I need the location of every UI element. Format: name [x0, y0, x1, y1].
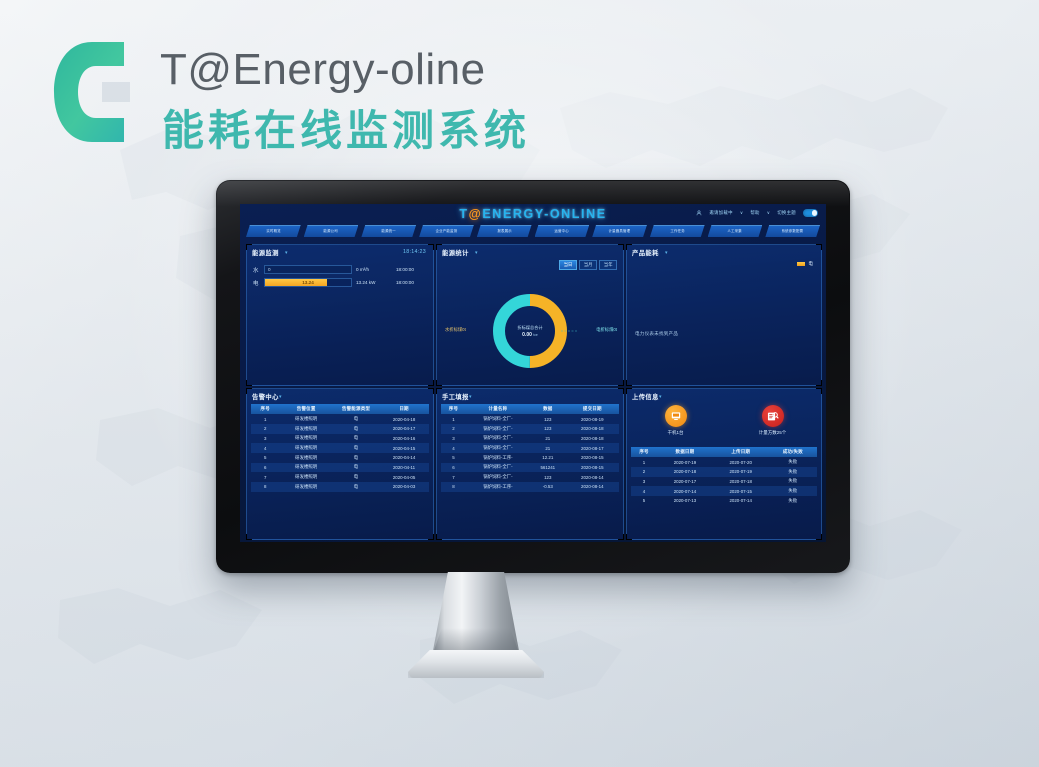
- table-cell: 失败: [769, 496, 817, 506]
- table-header-row: 序号 计量名称 数据 提交日期: [441, 404, 619, 414]
- nav-item-3[interactable]: 企业产能监测: [419, 225, 474, 237]
- table-cell: 1: [631, 457, 657, 467]
- table-row[interactable]: 7研发楼照明电2020-04-05: [251, 472, 429, 482]
- table-row[interactable]: 5研发楼照明电2020-04-14: [251, 453, 429, 463]
- table-cell: 电: [333, 453, 379, 463]
- alarm-table-body: 1研发楼照明电2020-04-182研发楼照明电2020-04-173研发楼照明…: [251, 414, 429, 492]
- account-label[interactable]: 邀请加载中: [709, 210, 732, 216]
- c-mark-logo-icon: [52, 32, 132, 152]
- nav-item-4[interactable]: 报表展示: [477, 225, 532, 237]
- nav-label: 计量器具管理: [609, 229, 631, 234]
- table-row[interactable]: 5锅炉饲料-工序-12.212020-08-15: [441, 453, 619, 463]
- table-row[interactable]: 2研发楼照明电2020-04-17: [251, 424, 429, 434]
- nav-label: 实时概览: [266, 229, 280, 234]
- panel-expand-icon[interactable]: ▾: [665, 250, 668, 256]
- brand-header: T@Energy-oline 能耗在线监测系统: [52, 26, 572, 156]
- report-search-icon: [762, 405, 784, 427]
- table-cell: 电: [333, 434, 379, 444]
- table-cell: 2020-04-05: [379, 472, 429, 482]
- col-submit-date: 提交日期: [566, 404, 619, 414]
- table-cell: 4: [441, 443, 466, 453]
- upload-table: 序号 数据日期 上传日期 成功/失败 12020-07-192020-07-20…: [631, 447, 817, 506]
- brand-title-cn: 能耗在线监测系统: [162, 110, 530, 152]
- panel-title-energy-monitor: 能源监测: [252, 248, 279, 257]
- help-caret-icon[interactable]: ∨: [767, 210, 771, 216]
- table-cell: 2020-04-17: [379, 424, 429, 434]
- dashboard-screen: T@ENERGY-ONLINE 邀请加载中 ∨ 帮助 ∨ 切换主题 实时概览 能…: [240, 204, 826, 542]
- donut-center-value: 0.00: [522, 332, 532, 338]
- main-nav: 实时概览 能源公司 能源统一 企业产能监测 报表展示 运营中心 计量器具管理 工…: [246, 225, 820, 238]
- product-legend: 电: [797, 261, 813, 267]
- nav-label: 报表展示: [497, 229, 511, 234]
- table-row[interactable]: 7锅炉饲料-全厂-1232020-08-14: [441, 472, 619, 482]
- table-row[interactable]: 3锅炉饲料-全厂-212020-08-18: [441, 434, 619, 444]
- table-cell: 2020-08-15: [566, 463, 619, 473]
- panel-title-upload-info: 上传信息: [632, 392, 659, 401]
- panel-energy-statistics: 能源统计 ▾ 当日 当月 当年 水折标煤0t 电折标煤0t: [436, 244, 624, 386]
- col-meter: 计量名称: [466, 404, 530, 414]
- table-cell: 失败: [769, 457, 817, 467]
- table-cell: 2020-04-16: [379, 434, 429, 444]
- badge-caption: 计量方数25个: [738, 430, 808, 436]
- table-cell: 研发楼照明: [279, 472, 332, 482]
- table-cell: 锅炉饲料-全厂-: [466, 414, 530, 424]
- table-row[interactable]: 8研发楼照明电2020-04-03: [251, 482, 429, 492]
- donut-center-label: 折标煤总合计: [437, 325, 623, 331]
- tab-month[interactable]: 当月: [579, 260, 597, 270]
- col-index: 序号: [631, 447, 657, 457]
- table-cell: 锅炉饲料-全厂-: [466, 443, 530, 453]
- nav-item-5[interactable]: 运营中心: [535, 225, 590, 237]
- table-cell: 失败: [769, 467, 817, 477]
- table-row[interactable]: 22020-07-182020-07-19失败: [631, 467, 817, 477]
- table-cell: 2020-07-17: [657, 477, 713, 487]
- table-cell: 6: [441, 463, 466, 473]
- table-cell: 3: [441, 434, 466, 444]
- table-cell: 3: [251, 434, 279, 444]
- panel-expand-icon[interactable]: ▾: [659, 394, 662, 400]
- energy-donut-chart: 水折标煤0t 电折标煤0t 折标煤总合计 0.00 tce: [437, 283, 623, 379]
- table-cell: 12.21: [530, 453, 566, 463]
- table-cell: 锅炉饲料-全厂-: [466, 424, 530, 434]
- col-type: 告警能源类型: [333, 404, 379, 414]
- badge-terminals: 干机1台: [641, 405, 711, 445]
- panel-energy-monitor: 能源监测 ▾ 18:14:23 水 0 0 m³/h 18:00:00 电 13…: [246, 244, 434, 386]
- theme-toggle-switch[interactable]: [803, 209, 818, 217]
- nav-item-6[interactable]: 计量器具管理: [592, 225, 647, 237]
- table-cell: 2020-04-11: [379, 463, 429, 473]
- table-cell: 2: [251, 424, 279, 434]
- col-index: 序号: [251, 404, 279, 414]
- table-cell: 研发楼照明: [279, 424, 332, 434]
- col-date: 日期: [379, 404, 429, 414]
- table-row[interactable]: 8锅炉饲料-工序--0.532020-08-14: [441, 482, 619, 492]
- energy-row-label: 水: [253, 266, 264, 274]
- table-cell: 2020-08-15: [566, 453, 619, 463]
- energy-row-time: 18:00:00: [396, 267, 428, 272]
- table-cell: 123: [530, 424, 566, 434]
- table-cell: 电: [333, 472, 379, 482]
- tab-today[interactable]: 当日: [559, 260, 577, 270]
- table-cell: 2020-07-19: [657, 457, 713, 467]
- table-cell: 4: [631, 486, 657, 496]
- table-row[interactable]: 1研发楼照明电2020-04-18: [251, 414, 429, 424]
- user-bar: 邀请加载中 ∨ 帮助 ∨ 切换主题: [696, 209, 818, 217]
- table-cell: 电: [333, 414, 379, 424]
- panel-expand-icon[interactable]: ▾: [279, 394, 282, 400]
- table-cell: -0.53: [530, 482, 566, 492]
- panel-title-alarm-center: 告警中心: [252, 392, 279, 401]
- table-cell: 2020-07-14: [713, 496, 769, 506]
- table-cell: 2020-07-18: [713, 477, 769, 487]
- table-row[interactable]: 32020-07-172020-07-18失败: [631, 477, 817, 487]
- table-cell: 研发楼照明: [279, 453, 332, 463]
- col-data-date: 数据日期: [657, 447, 713, 457]
- table-cell: 4: [251, 443, 279, 453]
- table-cell: 6: [251, 463, 279, 473]
- table-cell: 2020-07-13: [657, 496, 713, 506]
- table-cell: 电: [333, 443, 379, 453]
- terminal-icon: [665, 405, 687, 427]
- logo-at-icon: @: [469, 207, 483, 221]
- donut-center: 折标煤总合计 0.00 tce: [437, 325, 623, 338]
- table-cell: 锅炉饲料-全厂-: [466, 463, 530, 473]
- panel-product-energy: 产品能耗 ▾ 电 电力仪表未找到产品: [626, 244, 822, 386]
- col-upload-date: 上传日期: [713, 447, 769, 457]
- table-row[interactable]: 42020-07-142020-07-15失败: [631, 486, 817, 496]
- nav-item-0[interactable]: 实时概览: [246, 225, 301, 237]
- donut-center-unit: tce: [533, 333, 538, 337]
- energy-row-electricity: 电 13.24 13.24 kW 18:00:00: [253, 278, 428, 287]
- table-row[interactable]: 1锅炉饲料-全厂-1232020-08-19: [441, 414, 619, 424]
- table-cell: 研发楼照明: [279, 482, 332, 492]
- nav-item-9[interactable]: 系统参数配置: [765, 225, 820, 237]
- table-cell: 7: [441, 472, 466, 482]
- manual-table-body: 1锅炉饲料-全厂-1232020-08-192锅炉饲料-全厂-1232020-0…: [441, 414, 619, 492]
- app-topbar: T@ENERGY-ONLINE 邀请加载中 ∨ 帮助 ∨ 切换主题 实时概览 能…: [240, 204, 826, 246]
- table-cell: 21: [530, 434, 566, 444]
- table-cell: 5: [441, 453, 466, 463]
- table-cell: 2020-04-03: [379, 482, 429, 492]
- table-cell: 7: [251, 472, 279, 482]
- table-cell: 失败: [769, 477, 817, 487]
- nav-label: 企业产能监测: [436, 229, 458, 234]
- col-index: 序号: [441, 404, 466, 414]
- table-cell: 123: [530, 472, 566, 482]
- theme-toggle-label: 切换主题: [777, 210, 796, 216]
- table-row[interactable]: 6锅炉饲料-全厂-5612412020-08-15: [441, 463, 619, 473]
- energy-row-unit: 13.24 kW: [352, 280, 396, 285]
- nav-item-2[interactable]: 能源统一: [361, 225, 416, 237]
- table-row[interactable]: 2锅炉饲料-全厂-1232020-08-18: [441, 424, 619, 434]
- nav-label: 运营中心: [555, 229, 569, 234]
- account-caret-icon[interactable]: ∨: [740, 210, 744, 216]
- table-cell: 2020-07-18: [657, 467, 713, 477]
- energy-row-time: 18:00:00: [396, 280, 428, 285]
- col-data: 数据: [530, 404, 566, 414]
- table-cell: 2020-04-15: [379, 443, 429, 453]
- panel-title-manual-entry: 手工填报: [442, 392, 469, 401]
- monitor-base: [408, 650, 544, 678]
- col-status: 成功/失败: [769, 447, 817, 457]
- logo-prefix: T: [459, 207, 468, 221]
- table-row[interactable]: 3研发楼照明电2020-04-16: [251, 434, 429, 444]
- table-cell: 8: [251, 482, 279, 492]
- energy-row-water: 水 0 0 m³/h 18:00:00: [253, 265, 428, 274]
- table-cell: 锅炉饲料-全厂-: [466, 434, 530, 444]
- monitor-clock: 18:14:23: [403, 249, 426, 255]
- panel-expand-icon[interactable]: ▾: [475, 250, 478, 256]
- table-cell: 2020-08-14: [566, 482, 619, 492]
- help-label[interactable]: 帮助: [750, 210, 759, 216]
- table-cell: 研发楼照明: [279, 434, 332, 444]
- brand-title-en: T@Energy-oline: [160, 48, 486, 92]
- table-cell: 3: [631, 477, 657, 487]
- table-cell: 电: [333, 424, 379, 434]
- energy-row-value: 13.24: [265, 280, 351, 285]
- panel-title-product-energy: 产品能耗: [632, 248, 659, 257]
- nav-item-8[interactable]: 人工采集: [708, 225, 763, 237]
- panel-manual-entry: 手工填报 ▾ 序号 计量名称 数据 提交日期 1锅炉饲料-全厂-1232020-…: [436, 388, 624, 540]
- table-cell: 123: [530, 414, 566, 424]
- table-cell: 研发楼照明: [279, 414, 332, 424]
- table-cell: 锅炉饲料-工序-: [466, 453, 530, 463]
- upload-badges: 干机1台 计量方数25个: [627, 405, 821, 445]
- table-cell: 8: [441, 482, 466, 492]
- table-cell: 研发楼照明: [279, 463, 332, 473]
- manual-table: 序号 计量名称 数据 提交日期 1锅炉饲料-全厂-1232020-08-192锅…: [441, 404, 619, 492]
- energy-row-unit: 0 m³/h: [352, 267, 396, 272]
- table-row[interactable]: 6研发楼照明电2020-04-11: [251, 463, 429, 473]
- table-cell: 2020-07-15: [713, 486, 769, 496]
- table-cell: 2020-04-14: [379, 453, 429, 463]
- nav-label: 工作任务: [670, 229, 684, 234]
- col-location: 告警位置: [279, 404, 332, 414]
- panel-expand-icon[interactable]: ▾: [285, 250, 288, 256]
- panel-expand-icon[interactable]: ▾: [469, 394, 472, 400]
- table-cell: 21: [530, 443, 566, 453]
- nav-label: 能源统一: [382, 229, 396, 234]
- alarm-table: 序号 告警位置 告警能源类型 日期 1研发楼照明电2020-04-182研发楼照…: [251, 404, 429, 492]
- energy-row-label: 电: [253, 279, 264, 287]
- upload-table-body: 12020-07-192020-07-20失败22020-07-182020-0…: [631, 457, 817, 505]
- table-row[interactable]: 4研发楼照明电2020-04-15: [251, 443, 429, 453]
- monitor-device: T@ENERGY-ONLINE 邀请加载中 ∨ 帮助 ∨ 切换主题 实时概览 能…: [216, 180, 850, 573]
- energy-row-bar: 13.24: [264, 278, 352, 288]
- energy-row-bar: 0: [264, 265, 352, 275]
- legend-label: 电: [808, 261, 813, 267]
- table-cell: 1: [441, 414, 466, 424]
- panel-title-energy-statistics: 能源统计: [442, 248, 469, 257]
- table-cell: 1: [251, 414, 279, 424]
- table-row[interactable]: 12020-07-192020-07-20失败: [631, 457, 817, 467]
- logo-suffix: ENERGY-ONLINE: [482, 207, 606, 221]
- table-cell: 2020-08-17: [566, 443, 619, 453]
- table-cell: 2020-08-18: [566, 434, 619, 444]
- table-cell: 2020-08-18: [566, 424, 619, 434]
- table-cell: 锅炉饲料-全厂-: [466, 472, 530, 482]
- table-cell: 2: [441, 424, 466, 434]
- table-cell: 2020-07-19: [713, 467, 769, 477]
- table-cell: 2020-08-14: [566, 472, 619, 482]
- table-cell: 5: [631, 496, 657, 506]
- nav-item-7[interactable]: 工作任务: [650, 225, 705, 237]
- table-cell: 2020-04-18: [379, 414, 429, 424]
- table-cell: 2020-07-20: [713, 457, 769, 467]
- table-cell: 2: [631, 467, 657, 477]
- tab-year[interactable]: 当年: [599, 260, 617, 270]
- table-header-row: 序号 数据日期 上传日期 成功/失败: [631, 447, 817, 457]
- energy-row-value: 0: [265, 267, 351, 272]
- table-cell: 561241: [530, 463, 566, 473]
- product-empty-text: 电力仪表未找到产品: [635, 331, 678, 337]
- nav-label: 系统参数配置: [782, 229, 804, 234]
- nav-item-1[interactable]: 能源公司: [304, 225, 359, 237]
- table-cell: 研发楼照明: [279, 443, 332, 453]
- badge-caption: 干机1台: [641, 430, 711, 436]
- nav-label: 人工采集: [728, 229, 742, 234]
- table-cell: 5: [251, 453, 279, 463]
- legend-swatch: [797, 262, 805, 266]
- table-row[interactable]: 4锅炉饲料-全厂-212020-08-17: [441, 443, 619, 453]
- table-header-row: 序号 告警位置 告警能源类型 日期: [251, 404, 429, 414]
- table-cell: 失败: [769, 486, 817, 496]
- user-icon: [696, 210, 702, 216]
- table-cell: 电: [333, 463, 379, 473]
- panel-upload-info: 上传信息 ▾ 干机1台 计量方数25个 序号: [626, 388, 822, 540]
- table-cell: 锅炉饲料-工序-: [466, 482, 530, 492]
- table-row[interactable]: 52020-07-132020-07-14失败: [631, 496, 817, 506]
- table-cell: 2020-08-19: [566, 414, 619, 424]
- table-cell: 电: [333, 482, 379, 492]
- nav-label: 能源公司: [324, 229, 338, 234]
- badge-meters: 计量方数25个: [738, 405, 808, 445]
- stat-period-tabs: 当日 当月 当年: [559, 260, 617, 270]
- table-cell: 2020-07-14: [657, 486, 713, 496]
- panel-alarm-center: 告警中心 ▾ 序号 告警位置 告警能源类型 日期 1研发楼照明电2020-04-…: [246, 388, 434, 540]
